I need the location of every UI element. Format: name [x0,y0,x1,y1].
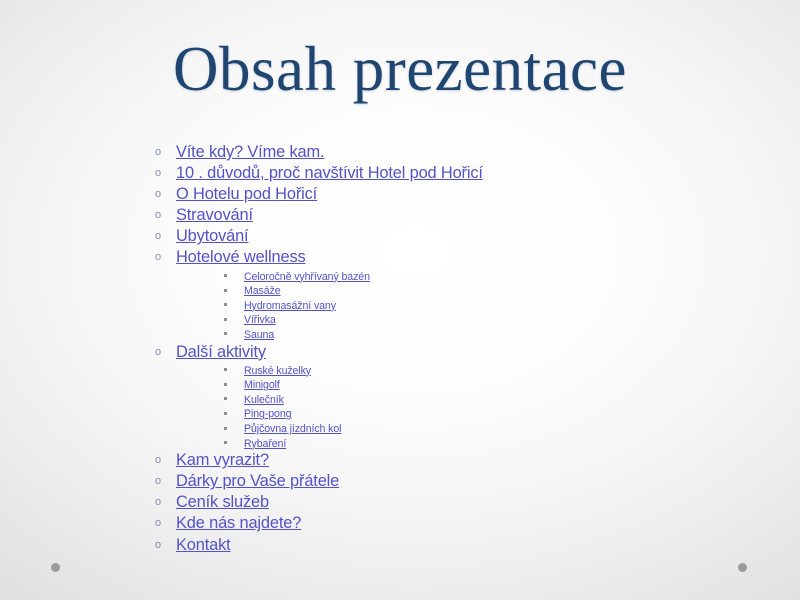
decorative-dot-left-icon [51,563,60,572]
small-square-bullet-icon [224,441,227,444]
toc-link[interactable]: Hotelové wellness [176,248,306,266]
hollow-circle-bullet-icon: o [152,471,164,492]
list-item[interactable]: Ping-pong [148,406,768,421]
list-item[interactable]: Masáže [148,283,768,298]
small-square-bullet-icon [224,274,227,277]
toc-sublink[interactable]: Kulečník [244,394,284,406]
toc-sublink[interactable]: Minigolf [244,379,280,391]
toc-link[interactable]: Dárky pro Vaše přátele [176,472,339,490]
list-item[interactable]: oCeník služeb [148,492,768,513]
list-item[interactable]: o10 . důvodů, proč navštívit Hotel pod H… [148,163,768,184]
toc-link[interactable]: Ceník služeb [176,493,269,511]
toc-link[interactable]: Kontakt [176,536,231,554]
toc-sublink[interactable]: Vířivka [244,314,276,326]
list-item[interactable]: oKde nás najdete? [148,513,768,534]
hollow-circle-bullet-icon: o [152,142,164,163]
hollow-circle-bullet-icon: o [152,163,164,184]
list-item[interactable]: Minigolf [148,377,768,392]
list-item[interactable]: Kulečník [148,392,768,407]
hollow-circle-bullet-icon: o [152,247,164,268]
toc-link[interactable]: Kam vyrazit? [176,451,269,469]
toc-sublink[interactable]: Celoročně vyhřívaný bazén [244,271,370,283]
small-square-bullet-icon [224,289,227,292]
decorative-dot-right-icon [738,563,747,572]
toc-sublink[interactable]: Masáže [244,285,281,297]
list-item[interactable]: Rybaření [148,436,768,451]
toc-link[interactable]: Stravování [176,206,253,224]
list-item[interactable]: oDalší aktivity [148,342,768,363]
toc-link[interactable]: O Hotelu pod Hořicí [176,185,317,203]
list-item[interactable]: oKontakt [148,535,768,556]
small-square-bullet-icon [224,368,227,371]
hollow-circle-bullet-icon: o [152,342,164,363]
toc-level2-list: Celoročně vyhřívaný bazénMasážeHydromasá… [148,269,768,342]
small-square-bullet-icon [224,318,227,321]
hollow-circle-bullet-icon: o [152,226,164,247]
presentation-slide: Obsah prezentace oVíte kdy? Víme kam.o10… [0,0,800,600]
list-item[interactable]: Hydromasážní vany [148,298,768,313]
toc-level1-list: oVíte kdy? Víme kam.o10 . důvodů, proč n… [148,142,768,556]
toc-subgroup: Celoročně vyhřívaný bazénMasážeHydromasá… [148,269,768,342]
toc-link[interactable]: 10 . důvodů, proč navštívit Hotel pod Ho… [176,164,483,182]
small-square-bullet-icon [224,412,227,415]
list-item[interactable]: oUbytování [148,226,768,247]
toc-sublink[interactable]: Sauna [244,329,274,341]
table-of-contents: oVíte kdy? Víme kam.o10 . důvodů, proč n… [148,142,768,556]
toc-sublink[interactable]: Ping-pong [244,408,291,420]
hollow-circle-bullet-icon: o [152,184,164,205]
hollow-circle-bullet-icon: o [152,513,164,534]
toc-link[interactable]: Kde nás najdete? [176,514,301,532]
toc-link[interactable]: Víte kdy? Víme kam. [176,143,324,161]
toc-sublink[interactable]: Půjčovna jízdních kol [244,423,341,435]
list-item[interactable]: Celoročně vyhřívaný bazén [148,269,768,284]
list-item[interactable]: Vířivka [148,312,768,327]
list-item[interactable]: Půjčovna jízdních kol [148,421,768,436]
small-square-bullet-icon [224,383,227,386]
page-title: Obsah prezentace [0,36,800,102]
hollow-circle-bullet-icon: o [152,450,164,471]
list-item[interactable]: oHotelové wellness [148,247,768,268]
toc-sublink[interactable]: Rybaření [244,438,286,450]
hollow-circle-bullet-icon: o [152,205,164,226]
toc-link[interactable]: Další aktivity [176,343,266,361]
toc-level2-list: Ruské kuželkyMinigolfKulečníkPing-pongPů… [148,363,768,451]
hollow-circle-bullet-icon: o [152,535,164,556]
small-square-bullet-icon [224,303,227,306]
hollow-circle-bullet-icon: o [152,492,164,513]
small-square-bullet-icon [224,332,227,335]
list-item[interactable]: oStravování [148,205,768,226]
list-item[interactable]: oDárky pro Vaše přátele [148,471,768,492]
list-item[interactable]: Ruské kuželky [148,363,768,378]
toc-sublink[interactable]: Ruské kuželky [244,365,311,377]
toc-sublink[interactable]: Hydromasážní vany [244,300,336,312]
list-item[interactable]: oKam vyrazit? [148,450,768,471]
toc-link[interactable]: Ubytování [176,227,248,245]
list-item[interactable]: oVíte kdy? Víme kam. [148,142,768,163]
list-item[interactable]: oO Hotelu pod Hořicí [148,184,768,205]
small-square-bullet-icon [224,427,227,430]
toc-subgroup: Ruské kuželkyMinigolfKulečníkPing-pongPů… [148,363,768,451]
list-item[interactable]: Sauna [148,327,768,342]
small-square-bullet-icon [224,397,227,400]
